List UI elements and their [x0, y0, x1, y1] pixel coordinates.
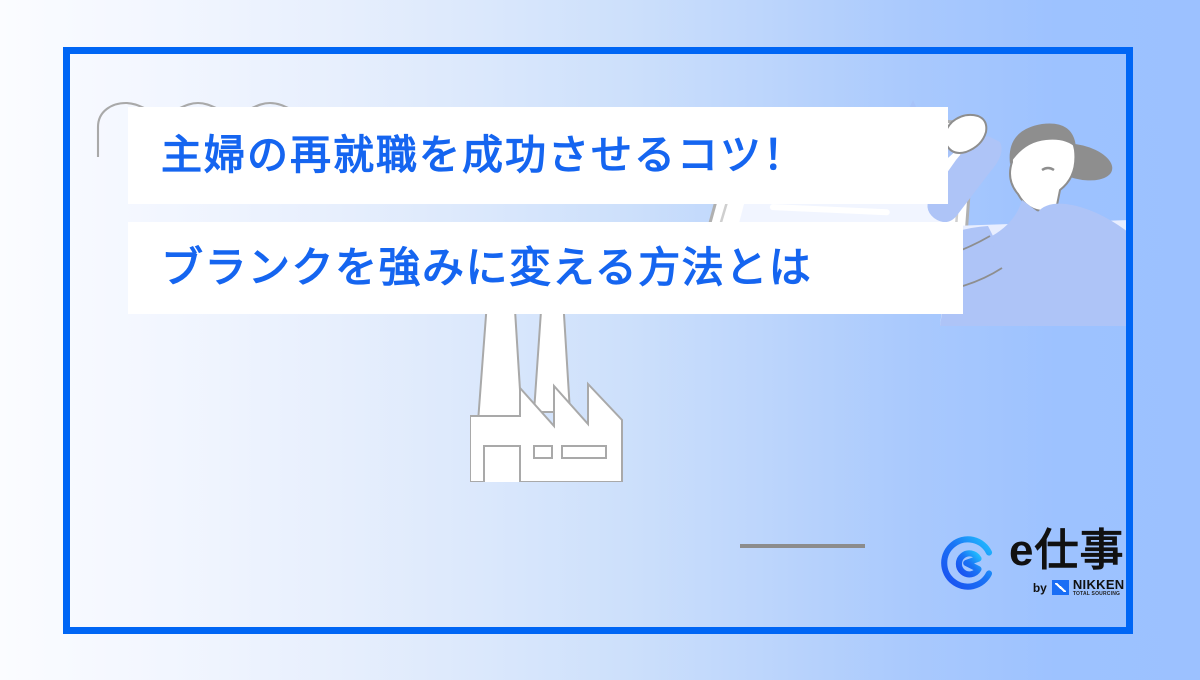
nikken-partner-tagline: TOTAL SOURCING	[1073, 592, 1125, 597]
brand-logo[interactable]: e仕事 by NIKKEN TOTAL SOURCING	[940, 529, 1124, 597]
banner-canvas: e仕事 by NIKKEN TOTAL SOURCING 主婦の再就職を成功させ…	[0, 0, 1200, 680]
e-circle-mark-icon	[940, 535, 996, 591]
logo-text-group: e仕事 by NIKKEN TOTAL SOURCING	[1009, 529, 1124, 597]
logo-wordmark: e仕事	[1009, 529, 1124, 573]
headline-line-1: 主婦の再就職を成功させるコツ！	[128, 135, 806, 176]
nikken-tile-icon	[1052, 580, 1069, 595]
nikken-partner-name: NIKKEN	[1073, 578, 1125, 591]
logo-by-label: by	[1033, 582, 1047, 594]
headline-box-secondary: ブランクを強みに変える方法とは	[128, 222, 963, 314]
desk-edge-line	[740, 544, 865, 548]
headline-line-2: ブランクを強みに変える方法とは	[128, 247, 812, 289]
nikken-name-group: NIKKEN TOTAL SOURCING	[1073, 578, 1125, 597]
headline-box-primary: 主婦の再就職を成功させるコツ！	[128, 107, 948, 204]
logo-partner-line: by NIKKEN TOTAL SOURCING	[1033, 578, 1125, 597]
